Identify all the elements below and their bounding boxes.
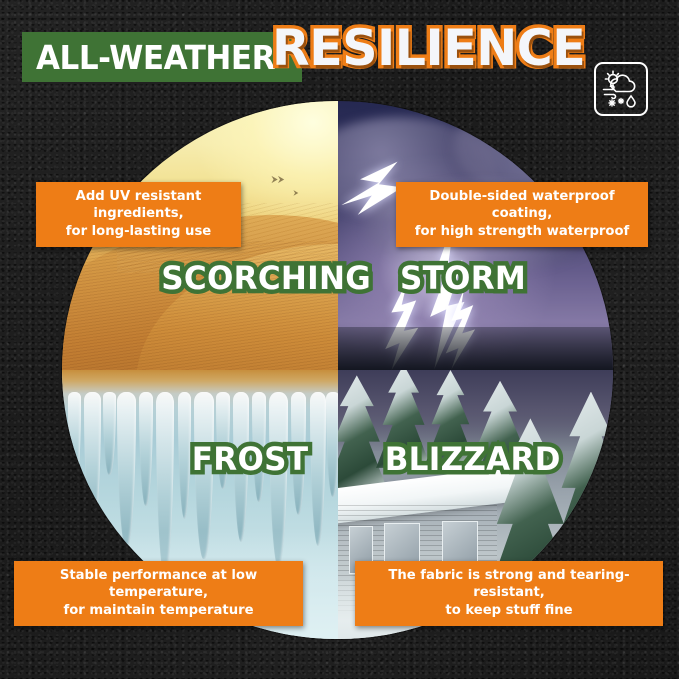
callout-line: for long-lasting use: [46, 223, 231, 240]
icicle: [326, 392, 337, 498]
icicle: [84, 392, 101, 533]
callout-blizzard: The fabric is strong and tearing-resista…: [355, 561, 663, 626]
callout-line: Stable performance at low temperature,: [24, 567, 293, 602]
category-label-storm: STORM: [400, 262, 526, 294]
poster-canvas: ALL-WEATHER RESILIENCE: [0, 0, 679, 679]
icicle: [103, 392, 115, 476]
callout-line: for high strength waterproof: [406, 223, 638, 240]
blizzard-sky: [338, 370, 614, 451]
category-label-frost: FROST: [192, 443, 308, 475]
bird-icon: ⮞: [293, 190, 298, 197]
icicle: [178, 392, 192, 520]
category-label-scorching: SCORCHING: [161, 262, 371, 294]
icicle: [117, 392, 136, 551]
page-title-primary: ALL-WEATHER: [36, 41, 275, 74]
icicle: [68, 392, 82, 493]
category-label-blizzard: BLIZZARD: [385, 443, 561, 475]
callout-line: for maintain temperature: [24, 602, 293, 619]
callout-storm: Double-sided waterproof coating, for hig…: [396, 182, 648, 247]
callout-frost: Stable performance at low temperature, f…: [14, 561, 303, 626]
callout-line: Double-sided waterproof coating,: [406, 188, 638, 223]
callout-line: The fabric is strong and tearing-resista…: [365, 567, 653, 602]
callout-line: Add UV resistant ingredients,: [46, 188, 231, 223]
callout-line: to keep stuff fine: [365, 602, 653, 619]
storm-treeline: [338, 327, 614, 370]
icicle: [139, 392, 153, 507]
callout-scorching: Add UV resistant ingredients, for long-l…: [36, 182, 241, 247]
page-title-secondary: RESILIENCE: [272, 23, 585, 73]
bird-icon: ⮞⮞: [271, 176, 284, 185]
icicle: [310, 392, 327, 546]
header-banner: ALL-WEATHER RESILIENCE: [0, 26, 679, 98]
header-green-plate: ALL-WEATHER: [22, 32, 302, 82]
